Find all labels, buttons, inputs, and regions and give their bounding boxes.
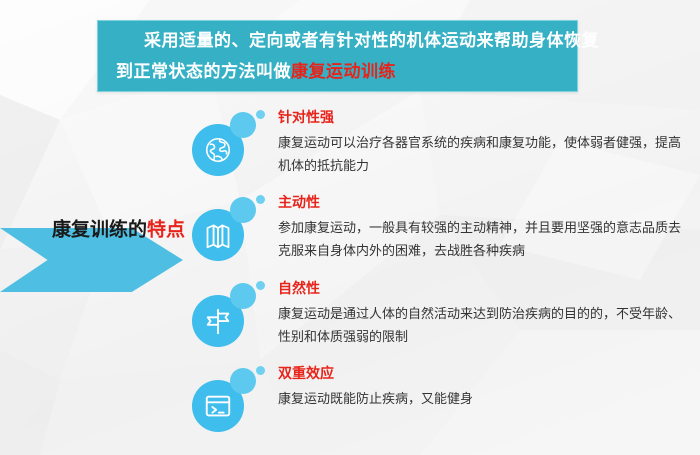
- terminal-window-icon: [192, 380, 244, 432]
- side-arrow-label-emphasis: 特点: [147, 218, 185, 240]
- feature-icon-group: [190, 195, 268, 273]
- feature-text-block: 自然性 康复运动是通过人体的自然活动来达到防治疾病的目的的，不受年龄、性别和体质…: [278, 281, 690, 349]
- feature-item: 双重效应 康复运动既能防止疾病，又能健身: [190, 366, 690, 451]
- header-banner: 采用适量的、定向或者有针对性的机体运动来帮助身体恢复 到正常状态的方法叫做康复运…: [97, 20, 578, 92]
- folded-map-icon: [192, 209, 244, 261]
- bubble-small: [256, 110, 265, 119]
- feature-icon-group: [190, 366, 268, 444]
- feature-body: 康复运动既能防止疾病，又能健身: [278, 389, 690, 412]
- feature-title: 自然性: [278, 281, 690, 298]
- feature-body: 参加康复运动，一般具有较强的主动精神，并且要用坚强的意志品质去克服来自身体内外的…: [278, 218, 690, 264]
- infographic-canvas: 采用适量的、定向或者有针对性的机体运动来帮助身体恢复 到正常状态的方法叫做康复运…: [0, 0, 700, 455]
- signpost-icon: [192, 295, 244, 347]
- bubble-small: [256, 366, 265, 375]
- banner-line-1: 采用适量的、定向或者有针对性的机体运动来帮助身体恢复: [144, 33, 599, 50]
- bubble-small: [256, 195, 265, 204]
- banner-line-2: 到正常状态的方法叫做康复运动训练: [116, 64, 396, 81]
- feature-body: 康复运动可以治疗各器官系统的疾病和康复功能，使体弱者健强，提高机体的抵抗能力: [278, 133, 690, 179]
- bubble-small: [256, 281, 265, 290]
- banner-line-2-emphasis: 康复运动训练: [291, 62, 396, 82]
- feature-item: 主动性 参加康复运动，一般具有较强的主动精神，并且要用坚强的意志品质去克服来自身…: [190, 195, 690, 280]
- feature-icon-group: [190, 110, 268, 188]
- feature-title: 主动性: [278, 195, 690, 212]
- feature-item: 自然性 康复运动是通过人体的自然活动来达到防治疾病的目的的，不受年龄、性别和体质…: [190, 281, 690, 366]
- side-arrow-label-prefix: 康复训练的: [52, 218, 147, 240]
- feature-icon-group: [190, 281, 268, 359]
- globe-icon: [192, 124, 244, 176]
- feature-title: 双重效应: [278, 366, 690, 383]
- feature-title: 针对性强: [278, 110, 690, 127]
- feature-text-block: 针对性强 康复运动可以治疗各器官系统的疾病和康复功能，使体弱者健强，提高机体的抵…: [278, 110, 690, 178]
- feature-text-block: 主动性 参加康复运动，一般具有较强的主动精神，并且要用坚强的意志品质去克服来自身…: [278, 195, 690, 263]
- banner-line-2-prefix: 到正常状态的方法叫做: [116, 62, 291, 82]
- feature-body: 康复运动是通过人体的自然活动来达到防治疾病的目的的，不受年龄、性别和体质强弱的限…: [278, 304, 690, 350]
- feature-text-block: 双重效应 康复运动既能防止疾病，又能健身: [278, 366, 690, 412]
- feature-item: 针对性强 康复运动可以治疗各器官系统的疾病和康复功能，使体弱者健强，提高机体的抵…: [190, 110, 690, 195]
- side-arrow-label: 康复训练的特点: [52, 214, 185, 241]
